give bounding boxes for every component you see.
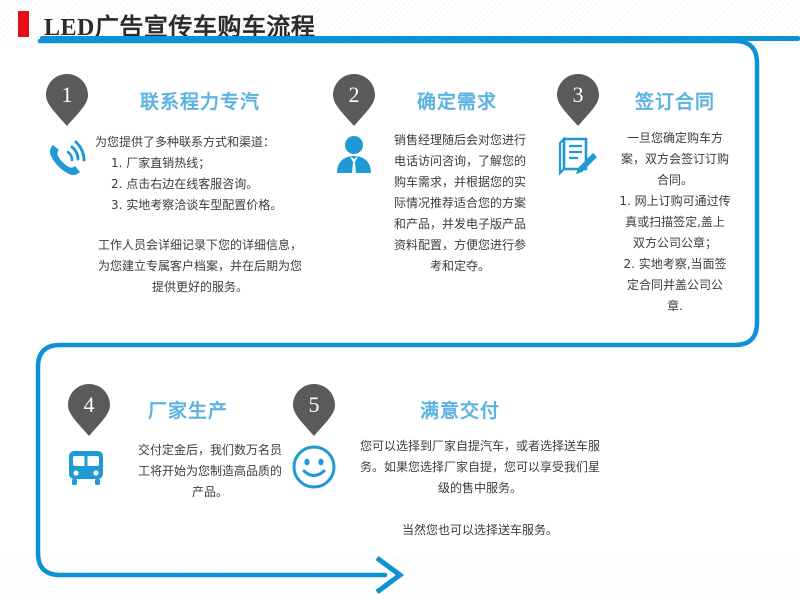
step-1-body: 为您提供了多种联系方式和渠道： 1. 厂家直销热线； 2. 点击右边在线客服咨询… [95,132,325,216]
step-1-number: 1 [45,77,89,113]
step-2-body: 销售经理随后会对您进行 电话访问咨询，了解您的 购车需求，并根据您的实 际情况推… [380,130,540,277]
contract-sign-icon [554,133,602,181]
step-3-body: 一旦您确定购车方 案，双方会签订订购 合同。 1. 网上订购可通过传 真或扫描签… [600,128,750,317]
step-3-number: 3 [556,77,600,113]
bus-icon [62,443,110,491]
flow-arrow-head [377,558,400,592]
step-4-title: 厂家生产 [148,396,228,423]
step-5-body: 您可以选择到厂家自提汽车，或者选择送车服 务。如果您选择厂家自提，您可以享受我们… [345,436,615,499]
step-2-title: 确定需求 [417,87,497,114]
step-2-number: 2 [332,77,376,113]
step-1-body-2: 工作人员会详细记录下您的详细信息， 为您建立专属客户档案，并在后期为您 提供更好… [65,235,335,298]
step-1-title: 联系程力专汽 [140,87,260,114]
step-5-title: 满意交付 [420,396,500,423]
step-3-title: 签订合同 [635,87,715,114]
step-4-body: 交付定金后，我们数万名员 工将开始为您制造高品质的 产品。 [120,440,300,503]
businessman-icon [330,132,378,180]
phone-ring-icon [42,135,90,183]
title-red-marker [18,11,29,37]
background-texture-bottom [0,555,800,600]
step-5-number: 5 [292,387,336,423]
step-4-number: 4 [67,387,111,423]
infographic-page: LED广告宣传车购车流程 1 联系程力专汽 为您提供了多种联系方式和渠道： 1.… [0,0,800,600]
smiley-face-icon [290,443,338,491]
title-underline [40,36,800,41]
step-5-body-2: 当然您也可以选择送车服务。 [345,520,615,541]
